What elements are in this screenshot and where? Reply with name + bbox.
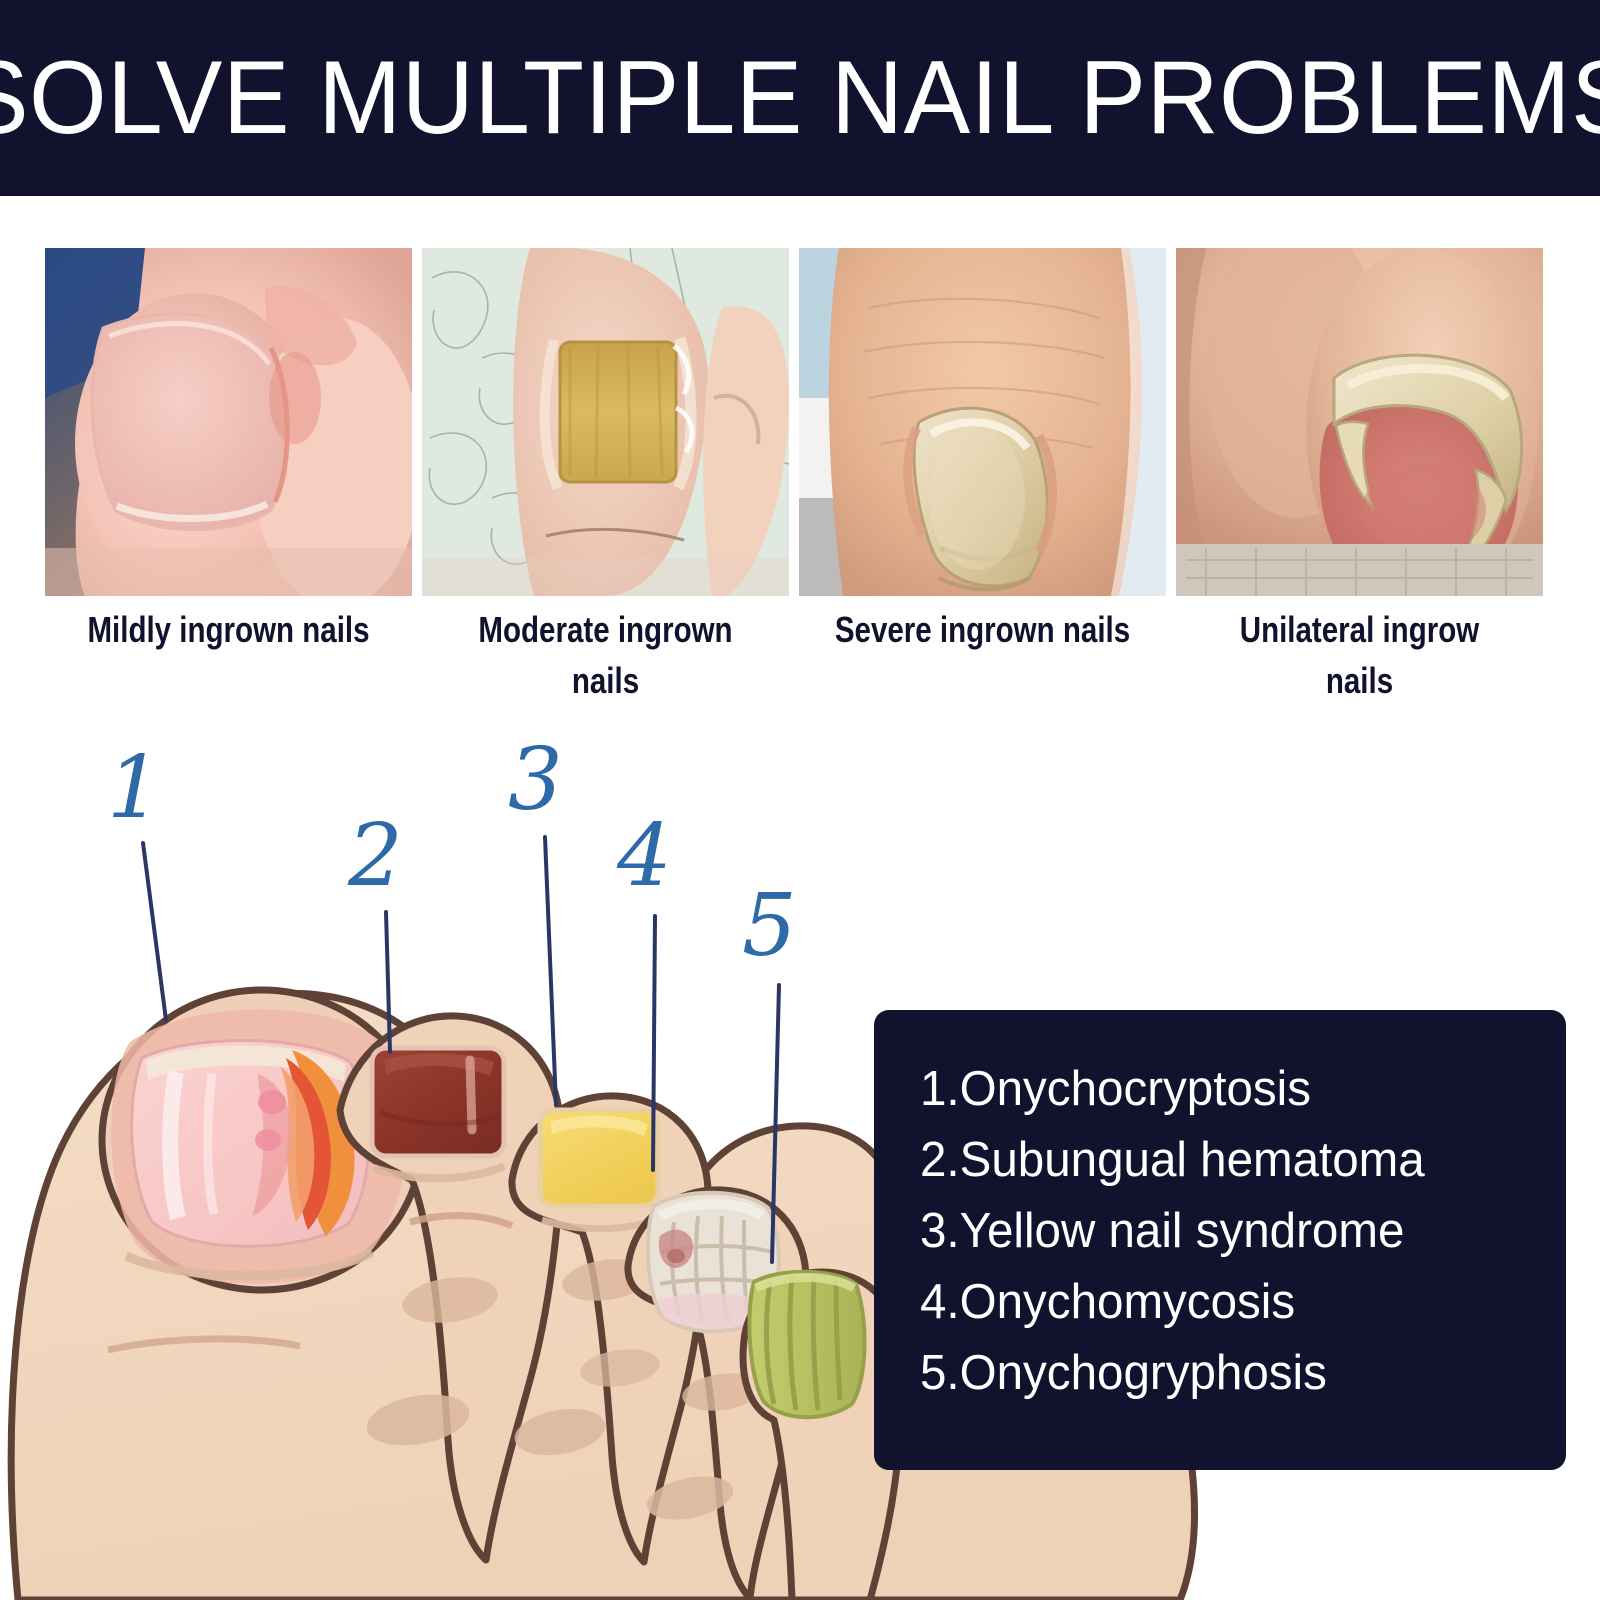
legend-item-3: 3.Yellow nail syndrome bbox=[920, 1196, 1547, 1267]
legend-item-4: 4.Onychomycosis bbox=[920, 1267, 1547, 1338]
callout-number-3: 3 bbox=[508, 737, 563, 823]
callout-number-2: 2 bbox=[348, 813, 403, 899]
toe-1-nail bbox=[132, 1040, 369, 1246]
toe-2-nail bbox=[372, 1048, 504, 1156]
infographic-page: SOLVE MULTIPLE NAIL PROBLEMS bbox=[0, 0, 1600, 1600]
callout-number-4: 4 bbox=[617, 813, 672, 899]
toe-3-nail bbox=[540, 1110, 658, 1206]
toe-5-nail bbox=[749, 1272, 864, 1418]
legend-box: 1.Onychocryptosis 2.Subungual hematoma 3… bbox=[874, 1010, 1566, 1470]
legend-item-2: 2.Subungual hematoma bbox=[920, 1125, 1547, 1196]
legend-item-5: 5.Onychogryphosis bbox=[920, 1338, 1547, 1409]
callout-number-1: 1 bbox=[107, 745, 162, 831]
legend-item-1: 1.Onychocryptosis bbox=[920, 1054, 1547, 1125]
callout-number-5: 5 bbox=[742, 883, 797, 969]
